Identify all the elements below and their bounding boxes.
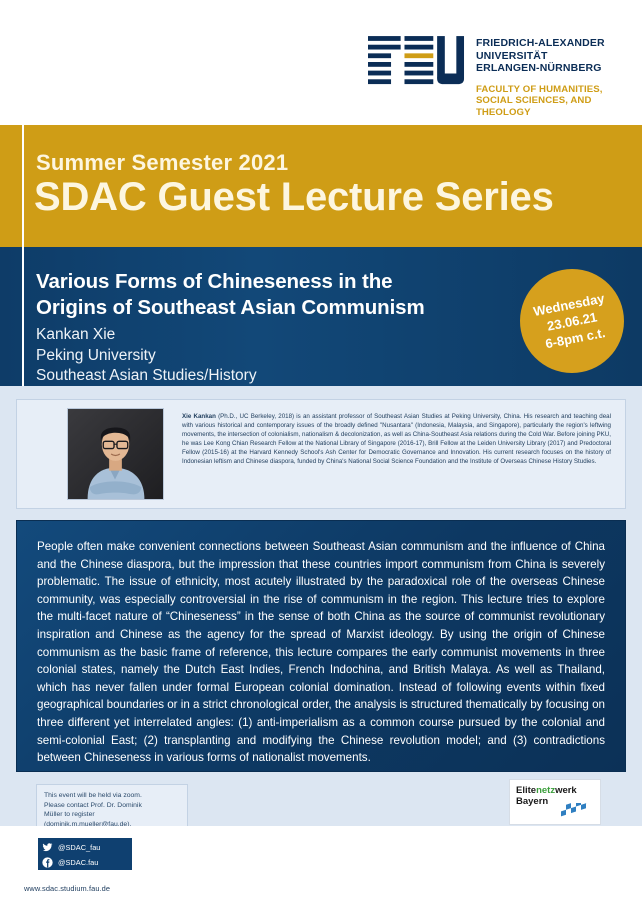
speaker-name: Kankan Xie bbox=[36, 325, 257, 346]
faculty-line-2: SOCIAL SCIENCES, AND THEOLOGY bbox=[476, 95, 642, 118]
enb-elite-text: Elite bbox=[516, 785, 536, 796]
contact-line-3: Müller to register bbox=[44, 810, 180, 820]
fau-logo-block: FRIEDRICH-ALEXANDER UNIVERSITÄT ERLANGEN… bbox=[368, 33, 642, 119]
lecture-header: Various Forms of Chineseness in the Orig… bbox=[0, 247, 642, 386]
speaker-portrait bbox=[67, 408, 164, 500]
twitter-handle: @SDAC_fau bbox=[58, 843, 100, 852]
abstract-text: People often make convenient connections… bbox=[37, 538, 605, 767]
fau-logo-icon bbox=[368, 33, 466, 91]
lecture-title: Various Forms of Chineseness in the Orig… bbox=[36, 269, 506, 321]
contact-line-2: Please contact Prof. Dr. Dominik bbox=[44, 801, 180, 811]
university-line-1: FRIEDRICH-ALEXANDER bbox=[476, 37, 642, 50]
speaker-bio-text: Xie Kankan (Ph.D., UC Berkeley, 2018) is… bbox=[182, 408, 611, 500]
lecture-title-line-2: Origins of Southeast Asian Communism bbox=[36, 295, 506, 321]
series-title: SDAC Guest Lecture Series bbox=[34, 175, 554, 220]
contact-line-1: This event will be held via zoom. bbox=[44, 791, 180, 801]
semester-label: Summer Semester 2021 bbox=[36, 150, 288, 176]
website-url[interactable]: www.sdac.studium.fau.de bbox=[24, 884, 110, 893]
enb-netz-text: netz bbox=[536, 785, 555, 796]
poster-header: FRIEDRICH-ALEXANDER UNIVERSITÄT ERLANGEN… bbox=[0, 0, 642, 125]
facebook-icon bbox=[42, 857, 53, 868]
elitenetzwerk-bayern-logo: Elitenetzwerk Bayern bbox=[509, 779, 601, 825]
speaker-department: Southeast Asian Studies/History bbox=[36, 366, 257, 387]
bio-lead-name: Xie Kankan bbox=[182, 413, 216, 420]
university-line-2: UNIVERSITÄT bbox=[476, 50, 642, 63]
speaker-bio-card: Xie Kankan (Ph.D., UC Berkeley, 2018) is… bbox=[16, 399, 626, 509]
university-line-3: ERLANGEN-NÜRNBERG bbox=[476, 62, 642, 75]
lecture-divider-line bbox=[22, 247, 24, 386]
series-banner: Summer Semester 2021 SDAC Guest Lecture … bbox=[0, 125, 642, 247]
facebook-handle: @SDAC.fau bbox=[58, 858, 98, 867]
lecture-title-line-1: Various Forms of Chineseness in the bbox=[36, 269, 506, 295]
twitter-icon bbox=[42, 842, 53, 853]
bio-body-text: (Ph.D., UC Berkeley, 2018) is an assista… bbox=[182, 413, 611, 465]
banner-divider-line bbox=[22, 125, 24, 247]
date-badge: Wednesday 23.06.21 6-8pm c.t. bbox=[511, 260, 633, 382]
social-links-box: @SDAC_fau @SDAC.fau bbox=[38, 838, 132, 870]
portrait-illustration bbox=[68, 409, 163, 499]
abstract-card: People often make convenient connections… bbox=[16, 520, 626, 772]
fau-logo-text: FRIEDRICH-ALEXANDER UNIVERSITÄT ERLANGEN… bbox=[476, 33, 642, 119]
faculty-line-1: FACULTY OF HUMANITIES, bbox=[476, 84, 642, 96]
twitter-link[interactable]: @SDAC_fau bbox=[42, 841, 128, 854]
enb-werk-text: werk bbox=[555, 785, 577, 796]
enb-checkered-flag-icon bbox=[559, 803, 595, 821]
speaker-affiliation: Peking University bbox=[36, 346, 257, 367]
speaker-info: Kankan Xie Peking University Southeast A… bbox=[36, 325, 257, 387]
facebook-link[interactable]: @SDAC.fau bbox=[42, 856, 128, 869]
